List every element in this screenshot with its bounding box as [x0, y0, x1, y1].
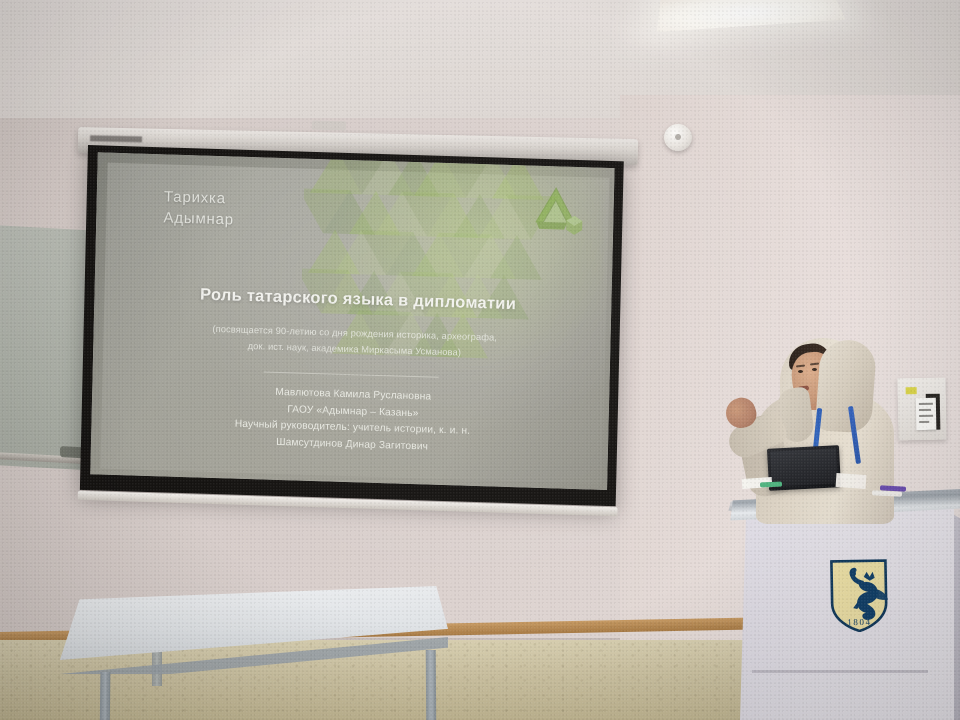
green-marker	[760, 482, 782, 488]
presentation-slide: Тарихка Адымнар	[90, 152, 614, 490]
screen-surface: Тарихка Адымнар	[90, 152, 614, 490]
kazan-university-zilant-emblem: 1804	[827, 557, 890, 632]
adymnar-triangle-logo	[525, 185, 586, 239]
ceiling-smoke-detector	[664, 124, 692, 151]
roller-brand-text	[90, 135, 142, 142]
table-leg	[426, 650, 437, 720]
classroom-table	[56, 586, 448, 720]
slide-brand: Тарихка Адымнар	[163, 187, 234, 232]
ceiling-fluorescent-panel	[657, 0, 846, 32]
hijab-front	[815, 338, 877, 434]
projection-screen: Тарихка Адымнар	[80, 145, 624, 506]
presenter-eye	[812, 368, 817, 371]
slide-credits: Мавлютова Камила Руслановна ГАОУ «Адымна…	[122, 380, 583, 460]
podium-front-panel: 1804	[740, 502, 954, 720]
presenter-eye	[798, 370, 803, 373]
screen-roller-mount	[312, 121, 346, 131]
brand-line-1: Тарихка	[164, 187, 235, 210]
brand-line-2: Адымнар	[163, 208, 234, 231]
classroom-photo: Тарихка Адымнар	[0, 0, 960, 720]
table-leg	[100, 672, 111, 720]
smoke-detector-sensor	[675, 134, 681, 140]
desk-paper	[836, 473, 867, 489]
podium-seam	[752, 670, 928, 673]
emblem-year: 1804	[847, 617, 872, 627]
